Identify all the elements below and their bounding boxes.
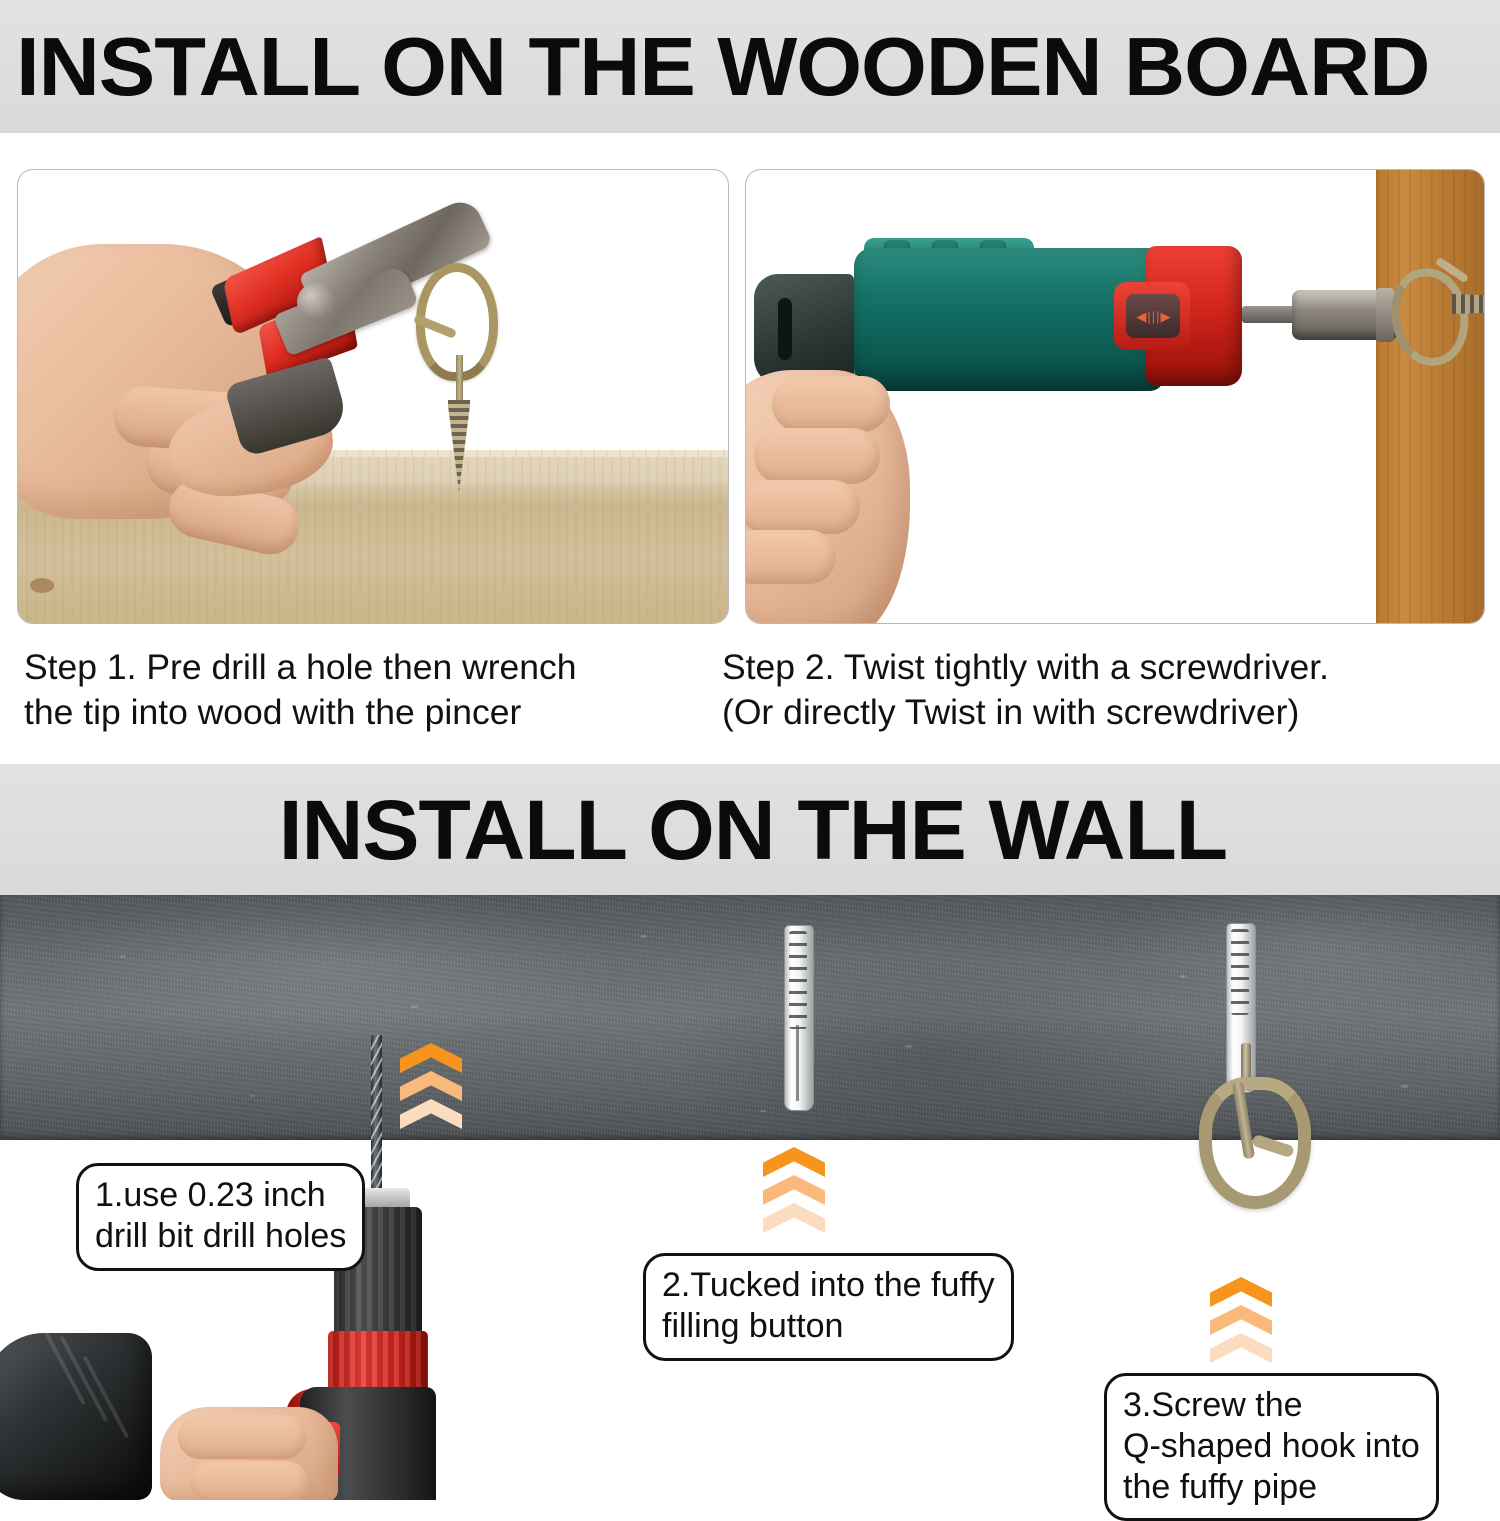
chevron-up-icon	[763, 1147, 825, 1177]
knuckle-1	[772, 376, 890, 432]
drill-torque-ring	[328, 1331, 428, 1391]
wall-anchor-slot	[796, 1025, 799, 1101]
wall-banner-title: INSTALL ON THE WALL	[279, 788, 1227, 872]
screwdriver-grip-slot	[778, 298, 792, 360]
step-1-photo	[17, 169, 729, 624]
plier-pivot	[297, 283, 335, 321]
wooden-board-banner: INSTALL ON THE WOODEN BOARD	[0, 0, 1500, 133]
chevron-up-icon	[400, 1043, 462, 1073]
screwdriver-shaft	[1242, 306, 1296, 323]
chevron-group-2	[763, 1147, 825, 1233]
drill-bit-icon	[371, 1035, 382, 1195]
knuckle-4	[745, 530, 836, 584]
drill-battery-pack	[0, 1333, 152, 1500]
step-1-caption: Step 1. Pre drill a hole then wrench the…	[24, 645, 724, 734]
step-2-caption: Step 2. Twist tightly with a screwdriver…	[722, 645, 1492, 734]
drill-finger-1	[178, 1415, 306, 1459]
chevron-up-icon	[400, 1099, 462, 1129]
wood-knot	[30, 578, 54, 593]
wooden-board-banner-title: INSTALL ON THE WOODEN BOARD	[16, 25, 1429, 108]
knuckle-2	[754, 428, 880, 484]
chevron-up-icon	[1210, 1333, 1272, 1363]
drill-finger-2	[190, 1461, 308, 1500]
wooden-post	[1376, 170, 1484, 623]
chevron-up-icon	[1210, 1305, 1272, 1335]
wooden-board-section: ◀|||▶ Step 1. Pre drill a hole then wren…	[0, 133, 1500, 764]
switch-arrows-icon: ◀|||▶	[1132, 309, 1176, 323]
chevron-up-icon	[763, 1175, 825, 1205]
chevron-up-icon	[1210, 1277, 1272, 1307]
chevron-up-icon	[763, 1203, 825, 1233]
chevron-group-1	[400, 1043, 462, 1129]
chevron-group-3	[1210, 1277, 1272, 1363]
wall-anchor-ribs	[789, 931, 807, 1029]
q-hook-screw-thread	[1452, 294, 1485, 314]
callout-screw-hook: 3.Screw the Q-shaped hook into the fuffy…	[1104, 1373, 1439, 1521]
knuckle-3	[745, 480, 860, 534]
wall-anchor-ribs	[1231, 929, 1249, 1015]
chevron-up-icon	[400, 1071, 462, 1101]
wall-banner: INSTALL ON THE WALL	[0, 764, 1500, 895]
callout-tuck-anchor: 2.Tucked into the fuffy filling button	[643, 1253, 1014, 1361]
callout-drill-holes: 1.use 0.23 inch drill bit drill holes	[76, 1163, 365, 1271]
step-2-photo: ◀|||▶	[745, 169, 1485, 624]
